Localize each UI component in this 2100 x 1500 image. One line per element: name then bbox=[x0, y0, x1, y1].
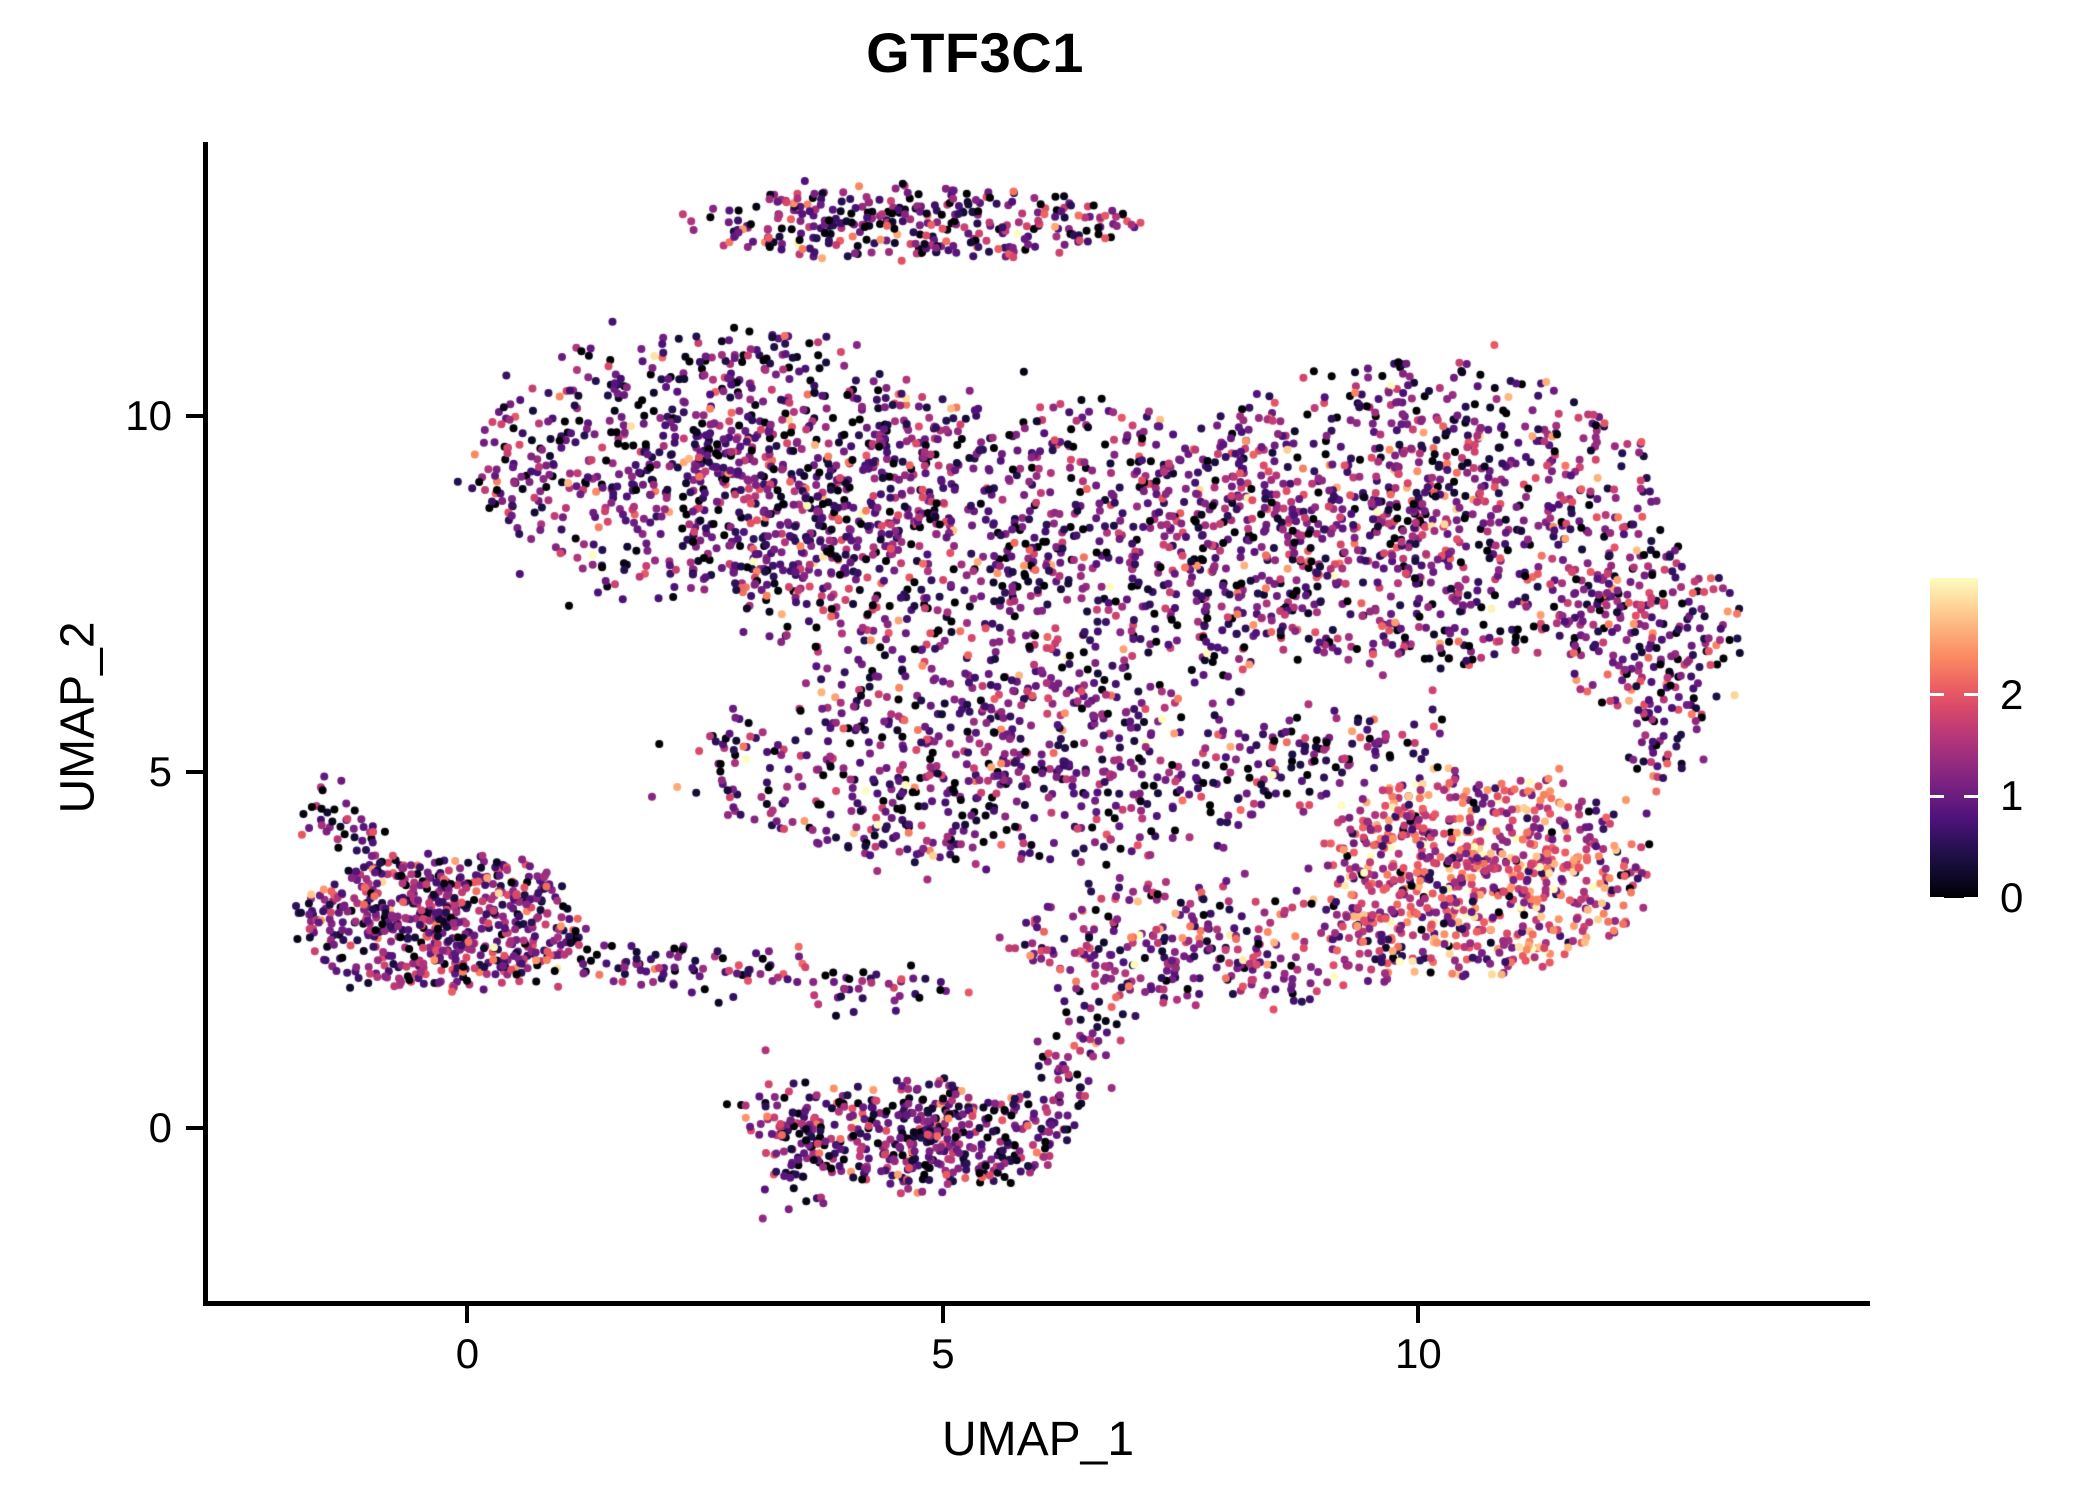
x-axis-line bbox=[203, 1301, 1870, 1306]
x-tick-label-1: 5 bbox=[931, 1330, 954, 1378]
umap-scatter-canvas bbox=[206, 142, 1870, 1303]
y-axis-title: UMAP_2 bbox=[51, 368, 106, 1068]
colorbar-tickmark-2-right bbox=[1964, 693, 1978, 696]
colorbar-tickmark-0-left bbox=[1930, 897, 1944, 900]
x-tick-label-0: 0 bbox=[456, 1330, 479, 1378]
colorbar-tick-label-0: 0 bbox=[2000, 874, 2023, 922]
colorbar-tickmark-2-left bbox=[1930, 693, 1944, 696]
scatter-plot-panel[interactable] bbox=[206, 142, 1870, 1303]
y-axis-line bbox=[203, 142, 208, 1306]
x-tick-0 bbox=[465, 1306, 469, 1323]
page-title: GTF3C1 bbox=[0, 22, 1950, 84]
x-tick-1 bbox=[941, 1306, 945, 1323]
colorbar-tickmark-1-right bbox=[1964, 795, 1978, 798]
x-tick-label-2: 10 bbox=[1395, 1330, 1442, 1378]
colorbar-tickmark-1-left bbox=[1930, 795, 1944, 798]
x-axis-title: UMAP_1 bbox=[206, 1412, 1870, 1467]
y-tick-label-0: 0 bbox=[0, 1104, 172, 1152]
colorbar-tick-label-1: 1 bbox=[2000, 772, 2023, 820]
y-tick-1 bbox=[186, 770, 203, 774]
colorbar-tickmark-0-right bbox=[1964, 897, 1978, 900]
y-tick-2 bbox=[186, 414, 203, 418]
feature-plot-figure: GTF3C1 0510 0510 UMAP_1 UMAP_2 012 bbox=[0, 0, 2100, 1500]
x-tick-2 bbox=[1416, 1306, 1420, 1323]
colorbar-gradient bbox=[1930, 578, 1978, 898]
y-tick-0 bbox=[186, 1126, 203, 1130]
colorbar-tick-label-2: 2 bbox=[2000, 671, 2023, 719]
